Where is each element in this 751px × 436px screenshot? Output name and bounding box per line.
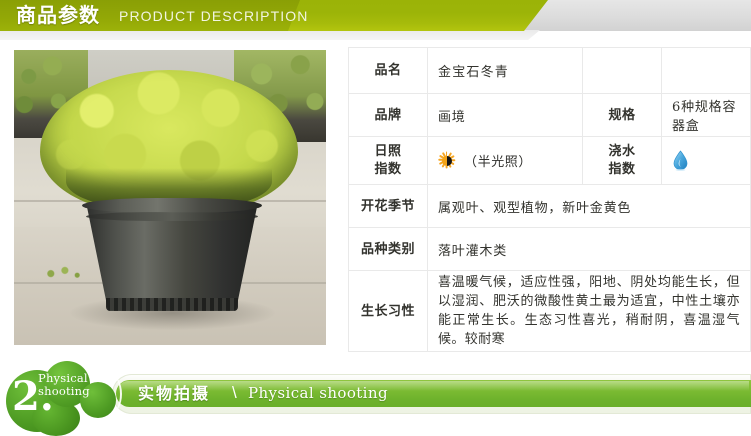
- product-parameter-table: 品名 金宝石冬青 品牌 画境 规格 6种规格容器盒 日照 指数: [348, 47, 751, 352]
- label-watering-line2: 指数: [593, 161, 651, 179]
- table-row-sunlight-water: 日照 指数 （半: [349, 137, 751, 185]
- value-sunlight-index: （半光照）: [428, 137, 583, 185]
- value-variety-category: 落叶灌木类: [428, 228, 751, 271]
- badge-label-line2: shooting: [38, 385, 120, 398]
- photo-pot-rim: [82, 198, 262, 213]
- banner-title-cn: 实物拍摄: [138, 383, 210, 404]
- label-empty-1: [583, 48, 662, 94]
- half-sun-icon: [438, 152, 455, 169]
- badge-label-en: Physical shooting: [38, 372, 120, 398]
- sunlight-text: （半光照）: [464, 151, 532, 170]
- table-row-flowering-season: 开花季节 属观叶、观型植物，新叶金黄色: [349, 185, 751, 228]
- label-product-name: 品名: [349, 48, 428, 94]
- table-row-brand: 品牌 画境 规格 6种规格容器盒: [349, 94, 751, 137]
- section-number-badge: 2. Physical shooting: [2, 360, 128, 436]
- table-row-variety-category: 品种类别 落叶灌木类: [349, 228, 751, 271]
- banner-title-en: Physical shooting: [248, 383, 388, 404]
- value-growth-habit: 喜温暖气候，适应性强，阳地、阴处均能生长，但以湿润、肥沃的微酸性黄土最为适宜，中…: [428, 271, 751, 352]
- label-specification: 规格: [583, 94, 662, 137]
- water-drop-icon: [672, 150, 689, 171]
- section-banner-physical-shooting: 实物拍摄 \ Physical shooting 2. Physical sho…: [0, 360, 751, 436]
- photo-pot-base: [106, 298, 238, 311]
- banner-bar-gloss: [118, 381, 749, 391]
- header-gray-underline: [0, 30, 751, 40]
- label-sunlight-line1: 日照: [359, 143, 417, 161]
- photo-pot-rim-lower: [86, 212, 258, 221]
- table-row-product-name: 品名 金宝石冬青: [349, 48, 751, 94]
- value-flowering-season: 属观叶、观型植物，新叶金黄色: [428, 185, 751, 228]
- value-empty-1: [662, 48, 751, 94]
- product-photo: [14, 50, 326, 345]
- label-variety-category: 品种类别: [349, 228, 428, 271]
- page-title-en: PRODUCT DESCRIPTION: [119, 8, 308, 25]
- banner-separator: \: [232, 382, 237, 404]
- label-watering-index: 浇水 指数: [583, 137, 662, 185]
- label-growth-habit: 生长习性: [349, 271, 428, 352]
- photo-ground-weed: [42, 264, 86, 280]
- label-sunlight-line2: 指数: [359, 161, 417, 179]
- page-title-cn: 商品参数: [16, 3, 100, 28]
- label-watering-line1: 浇水: [593, 143, 651, 161]
- label-sunlight-index: 日照 指数: [349, 137, 428, 185]
- value-brand: 画境: [428, 94, 583, 137]
- value-product-name: 金宝石冬青: [428, 48, 583, 94]
- table-row-growth-habit: 生长习性 喜温暖气候，适应性强，阳地、阴处均能生长，但以湿润、肥沃的微酸性黄土最…: [349, 271, 751, 352]
- value-specification: 6种规格容器盒: [662, 94, 751, 137]
- value-watering-index: [662, 137, 751, 185]
- page-header: 商品参数 PRODUCT DESCRIPTION: [0, 0, 751, 42]
- label-flowering-season: 开花季节: [349, 185, 428, 228]
- label-brand: 品牌: [349, 94, 428, 137]
